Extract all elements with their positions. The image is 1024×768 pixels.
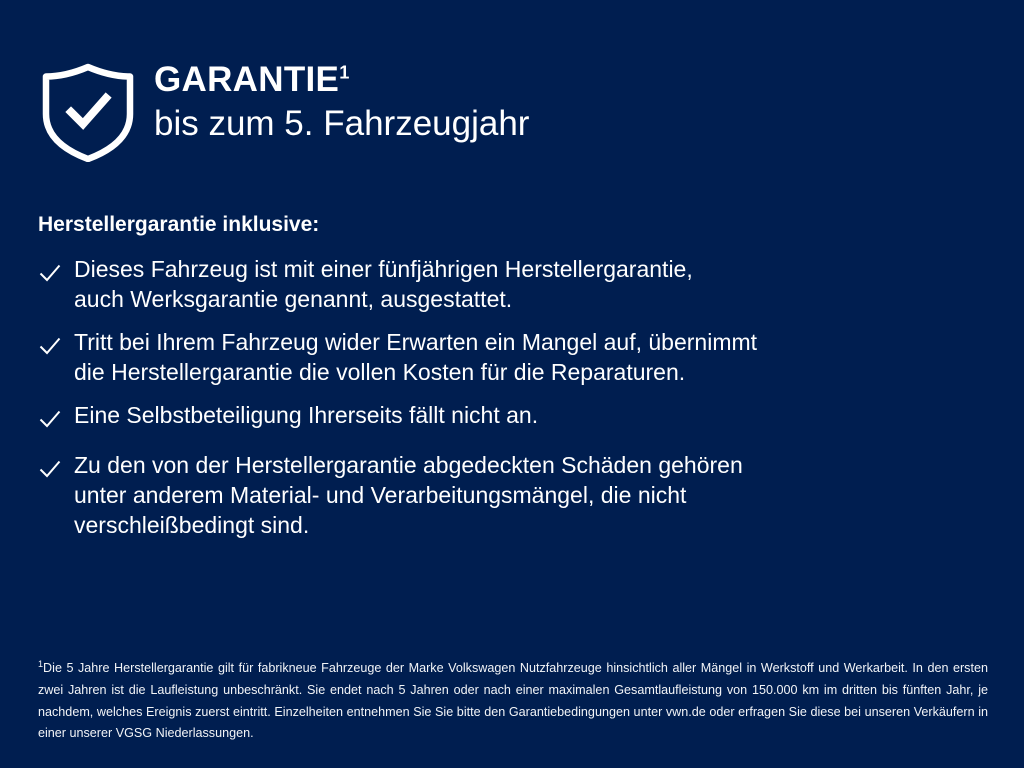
check-icon — [38, 401, 62, 438]
content-block: Herstellergarantie inklusive: Dieses Fah… — [38, 212, 988, 540]
list-item: Dieses Fahrzeug ist mit einer fünfjährig… — [38, 255, 988, 315]
footnote-text: Die 5 Jahre Herstellergarantie gilt für … — [38, 661, 988, 740]
header-text: GARANTIE1 bis zum 5. Fahrzeugjahr — [154, 58, 529, 144]
page-subtitle: bis zum 5. Fahrzeugjahr — [154, 103, 529, 144]
garantie-slide: GARANTIE1 bis zum 5. Fahrzeugjahr Herste… — [0, 0, 1024, 768]
list-item: Zu den von der Herstellergarantie abgede… — [38, 451, 988, 541]
page-title: GARANTIE1 — [154, 62, 529, 99]
page-title-text: GARANTIE — [154, 60, 339, 99]
list-item: Tritt bei Ihrem Fahrzeug wider Erwarten … — [38, 328, 988, 388]
page-title-superscript: 1 — [339, 62, 349, 82]
list-item-label: Dieses Fahrzeug ist mit einer fünfjährig… — [74, 255, 693, 315]
header: GARANTIE1 bis zum 5. Fahrzeugjahr — [40, 58, 529, 162]
footnote: 1Die 5 Jahre Herstellergarantie gilt für… — [38, 658, 988, 745]
benefits-list: Dieses Fahrzeug ist mit einer fünfjährig… — [38, 255, 988, 540]
shield-check-icon — [40, 58, 136, 162]
check-icon — [38, 255, 62, 292]
list-item-label: Zu den von der Herstellergarantie abgede… — [74, 451, 743, 541]
list-item-label: Eine Selbstbeteiligung Ihrerseits fällt … — [74, 401, 538, 431]
list-item-label: Tritt bei Ihrem Fahrzeug wider Erwarten … — [74, 328, 757, 388]
check-icon — [38, 451, 62, 488]
lead-heading: Herstellergarantie inklusive: — [38, 212, 988, 237]
check-icon — [38, 328, 62, 365]
list-item: Eine Selbstbeteiligung Ihrerseits fällt … — [38, 401, 988, 438]
